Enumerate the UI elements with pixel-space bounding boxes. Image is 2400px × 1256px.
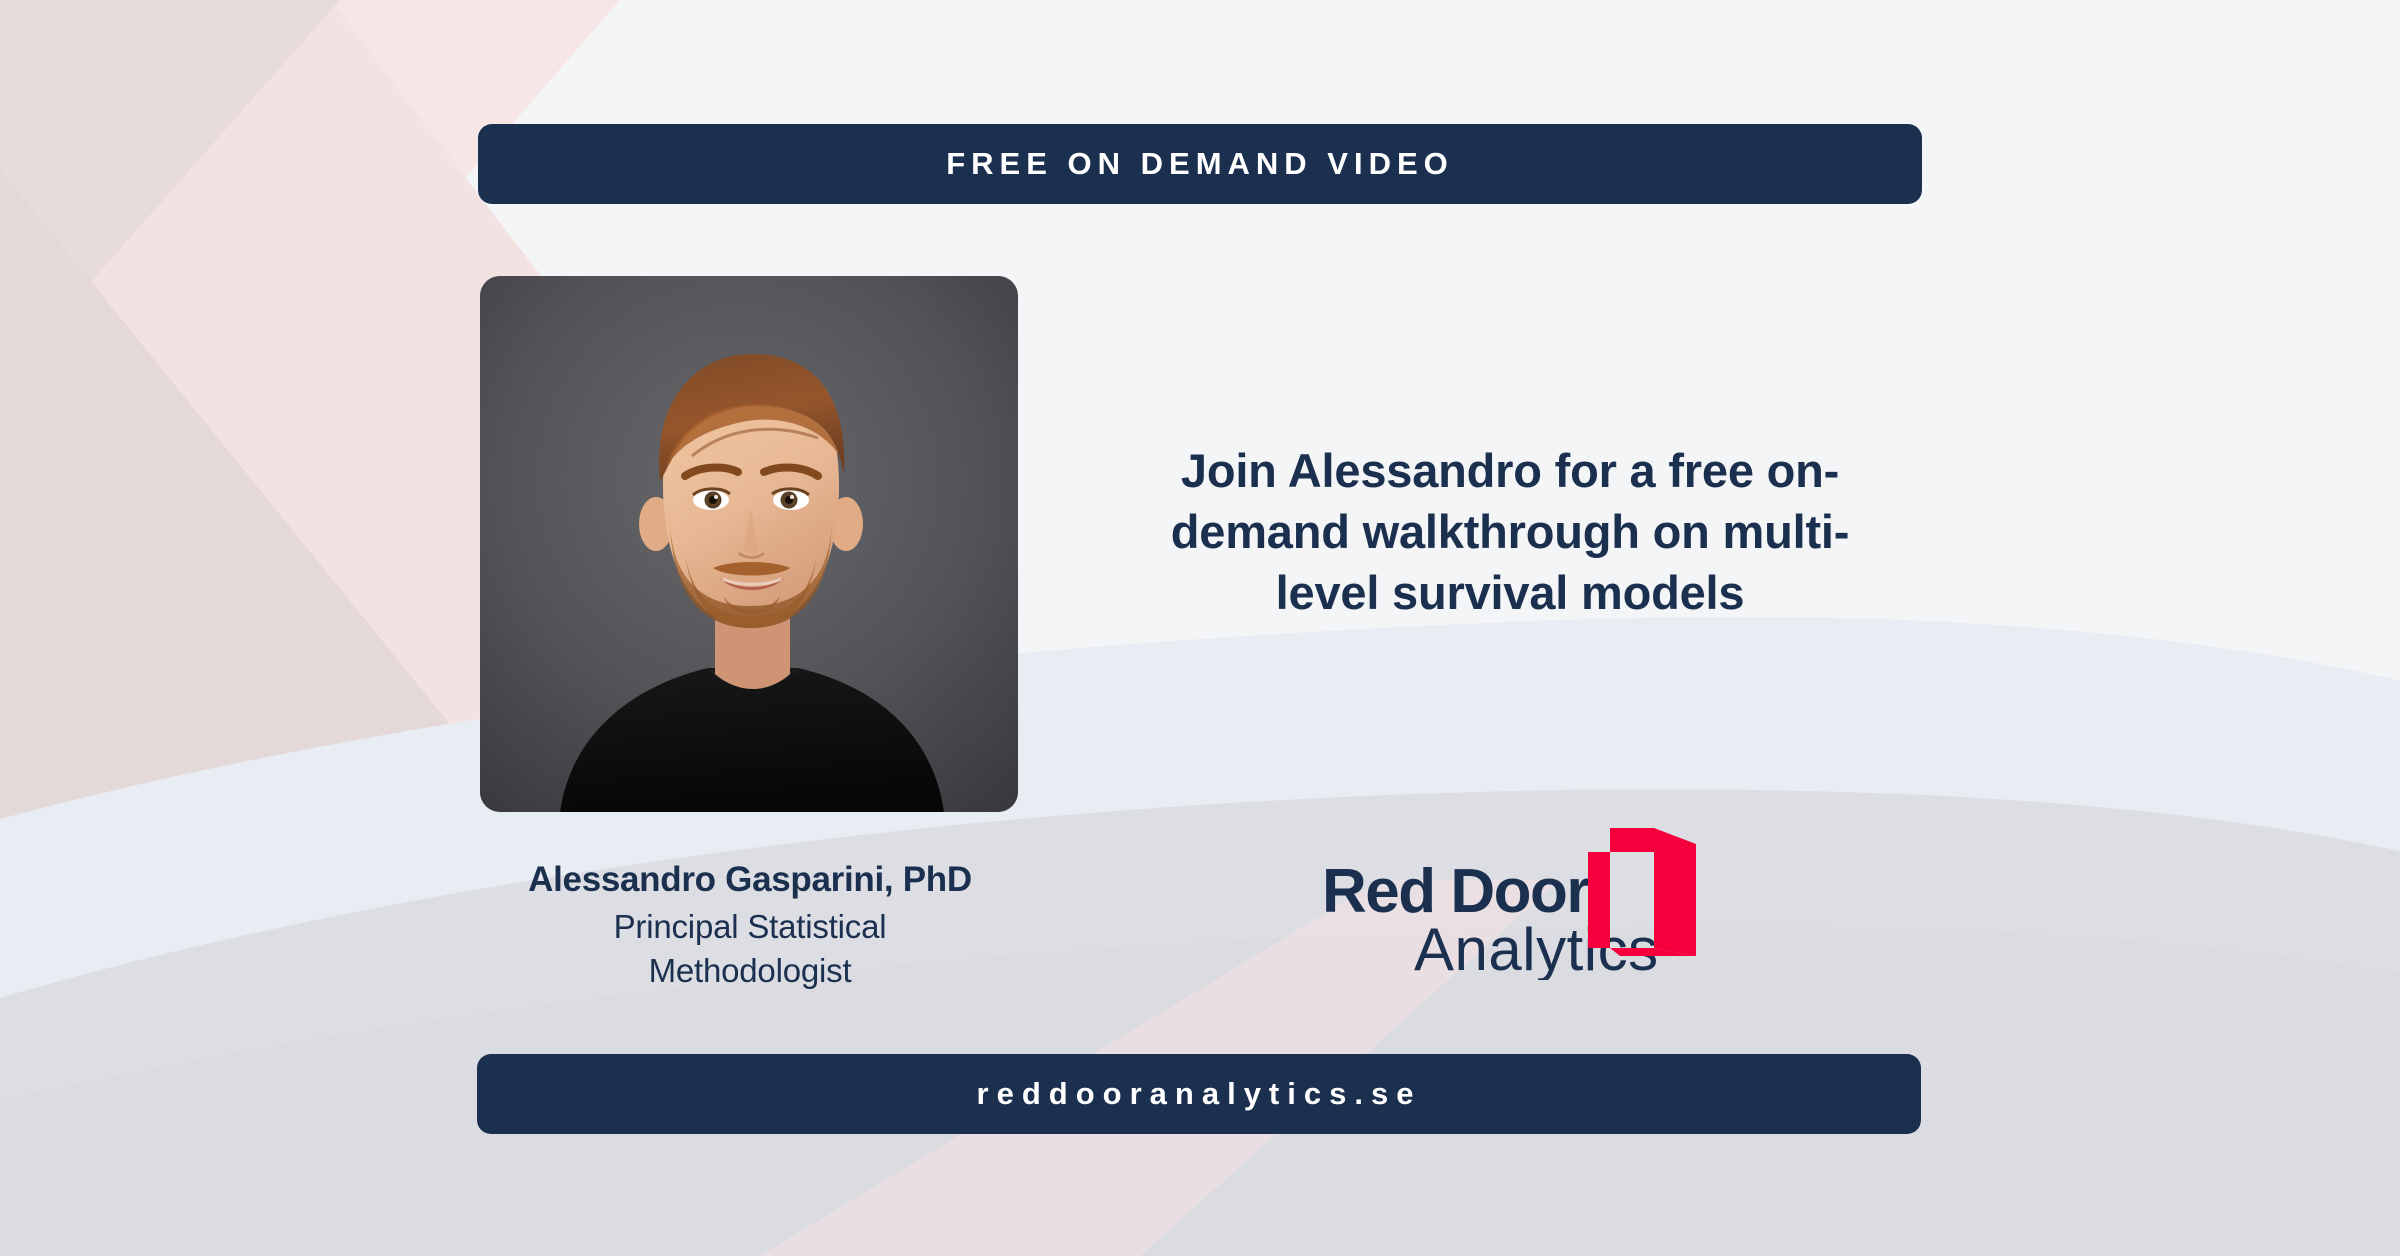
headline: Join Alessandro for a free on- demand wa… — [1030, 440, 1990, 623]
headline-line-2: demand walkthrough on multi- — [1030, 501, 1990, 562]
speaker-photo — [480, 276, 1018, 812]
headline-line-1: Join Alessandro for a free on- — [1030, 440, 1990, 501]
speaker-photo-image — [480, 276, 1018, 812]
top-banner-label: FREE ON DEMAND VIDEO — [946, 146, 1454, 182]
speaker-details: Alessandro Gasparini, PhD Principal Stat… — [430, 858, 1070, 993]
website-banner[interactable]: reddooranalytics.se — [477, 1054, 1921, 1134]
red-door-analytics-logo[interactable]: Red Door Analytics — [1322, 820, 1712, 980]
bottom-banner-label: reddooranalytics.se — [977, 1076, 1422, 1112]
speaker-name: Alessandro Gasparini, PhD — [430, 858, 1070, 903]
speaker-role-line2: Methodologist — [430, 949, 1070, 993]
speaker-role-line1: Principal Statistical — [430, 905, 1070, 949]
free-on-demand-banner[interactable]: FREE ON DEMAND VIDEO — [478, 124, 1922, 204]
headline-line-3: level survival models — [1030, 562, 1990, 623]
speaker-role: Principal Statistical Methodologist — [430, 905, 1070, 993]
